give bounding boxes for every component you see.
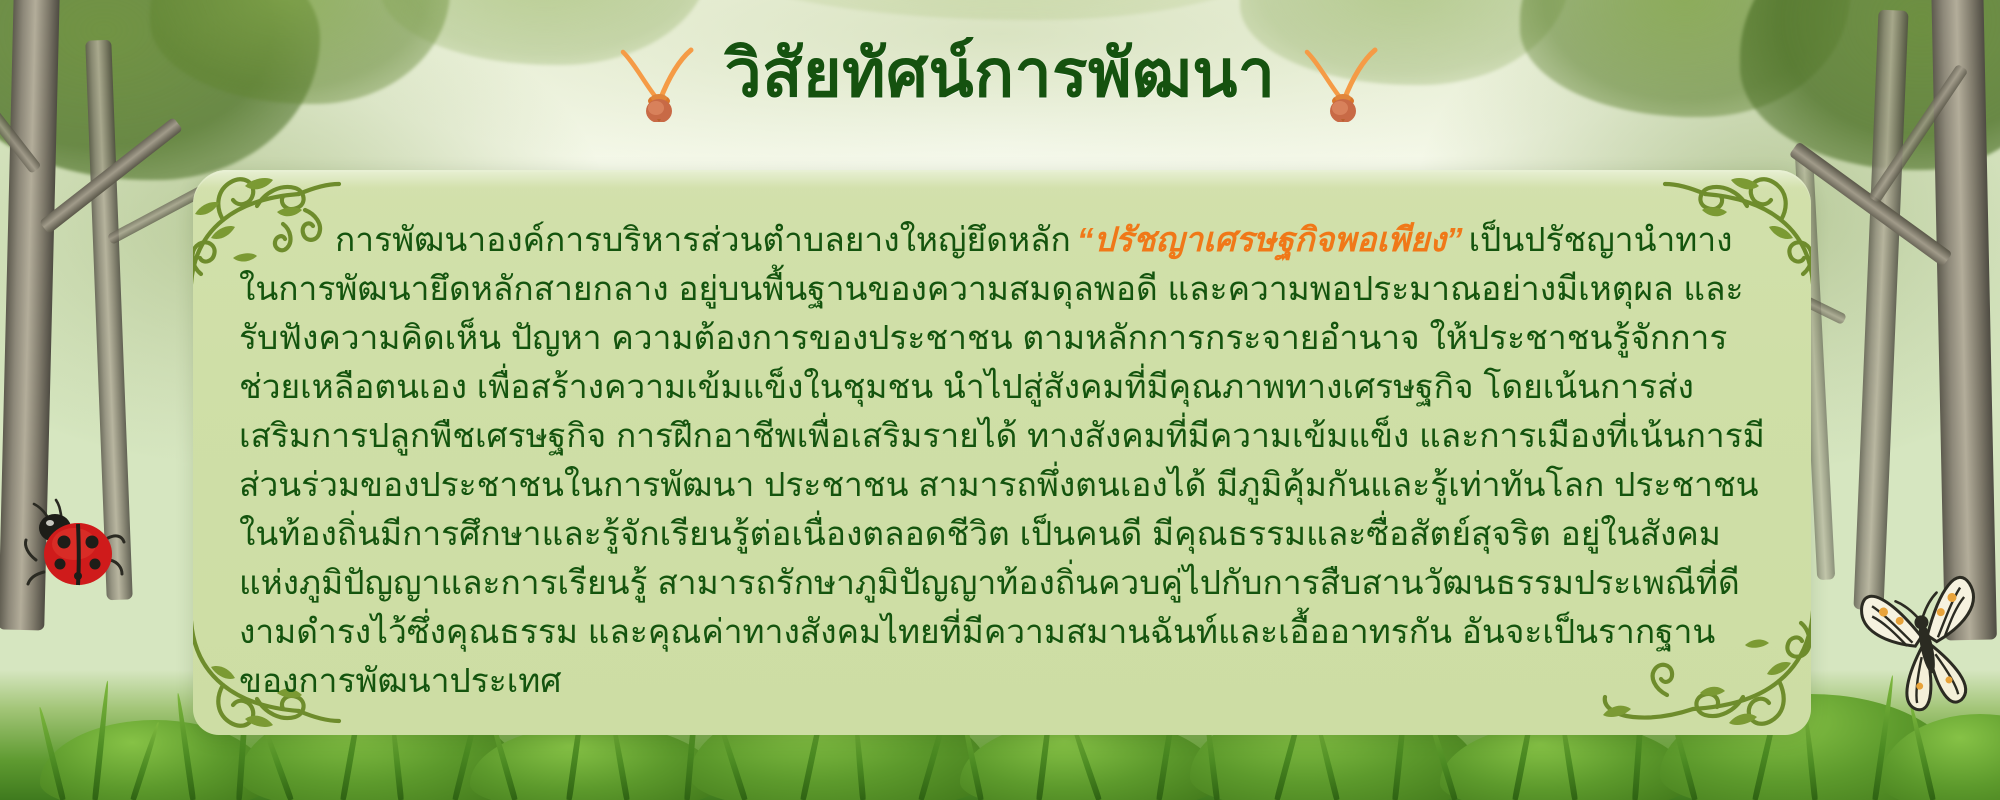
vision-paragraph: การพัฒนาองค์การบริหารส่วนตำบลยางใหญ่ยึดห… xyxy=(193,170,1811,735)
vision-highlight-quote: “ปรัชญาเศรษฐกิจพอเพียง” xyxy=(1071,222,1469,259)
butterfly-icon xyxy=(1860,564,1990,714)
vision-paragraph-part2: เป็นปรัชญานำทางในการพัฒนายึดหลักสายกลาง … xyxy=(239,222,1765,700)
orange-antenna-ornament-left-icon xyxy=(615,26,701,122)
banner-stage: วิสัยทัศน์การพัฒนา xyxy=(0,0,2000,800)
vision-content-panel: การพัฒนาองค์การบริหารส่วนตำบลยางใหญ่ยึดห… xyxy=(193,170,1811,735)
banner-header: วิสัยทัศน์การพัฒนา xyxy=(0,14,2000,134)
ladybug-icon xyxy=(22,498,130,594)
page-title: วิสัยทัศน์การพัฒนา xyxy=(725,39,1276,108)
orange-antenna-ornament-right-icon xyxy=(1299,26,1385,122)
vision-paragraph-part1: การพัฒนาองค์การบริหารส่วนตำบลยางใหญ่ยึดห… xyxy=(335,222,1071,259)
